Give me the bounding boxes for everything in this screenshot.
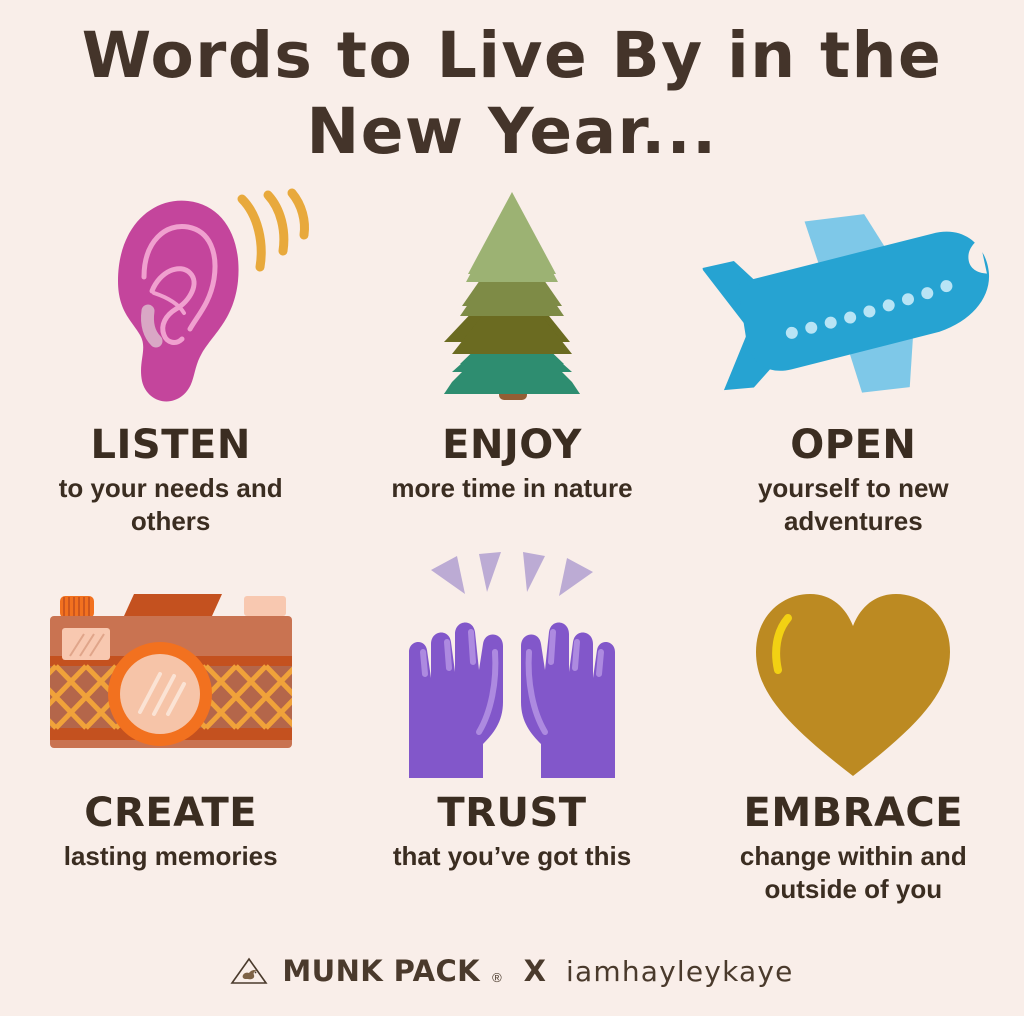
- poster-canvas: Words to Live By in the New Year...: [0, 0, 1024, 1016]
- card-open: OPEN yourself to new adventures: [683, 180, 1024, 538]
- title-line-1: Words to Live By in the: [0, 18, 1024, 94]
- munk-pack-triangle-chipmunk-logo: [230, 956, 268, 986]
- keyword-trust: TRUST: [437, 790, 586, 836]
- card-create: CREATE lasting memories: [0, 552, 341, 906]
- description-embrace: change within and outside of you: [703, 840, 1003, 906]
- grid-row-1: LISTEN to your needs and others: [0, 180, 1024, 538]
- heart-icon: [683, 552, 1024, 784]
- page-title: Words to Live By in the New Year...: [0, 18, 1024, 170]
- keyword-listen: LISTEN: [91, 422, 251, 468]
- card-enjoy: ENJOY more time in nature: [341, 180, 682, 538]
- ear-icon: [0, 180, 341, 410]
- pine-tree-icon: [341, 180, 682, 410]
- raised-hands-icon: [341, 552, 682, 784]
- description-enjoy: more time in nature: [391, 472, 632, 505]
- title-line-2: New Year...: [0, 94, 1024, 170]
- keyword-create: CREATE: [84, 790, 257, 836]
- card-listen: LISTEN to your needs and others: [0, 180, 341, 538]
- airplane-icon: [683, 180, 1024, 410]
- description-trust: that you’ve got this: [393, 840, 631, 873]
- collab-separator: X: [524, 954, 546, 988]
- card-trust: TRUST that you’ve got this: [341, 552, 682, 906]
- brand-name: MUNK PACK: [282, 954, 480, 988]
- description-create: lasting memories: [64, 840, 278, 873]
- description-listen: to your needs and others: [21, 472, 321, 538]
- keyword-open: OPEN: [790, 422, 916, 468]
- keyword-enjoy: ENJOY: [442, 422, 582, 468]
- registered-mark: ®: [492, 970, 502, 985]
- footer-branding: MUNK PACK ® X iamhayleykaye: [0, 954, 1024, 988]
- description-open: yourself to new adventures: [703, 472, 1003, 538]
- collab-handle: iamhayleykaye: [566, 955, 794, 988]
- grid-row-2: CREATE lasting memories: [0, 552, 1024, 906]
- card-embrace: EMBRACE change within and outside of you: [683, 552, 1024, 906]
- words-grid: LISTEN to your needs and others: [0, 180, 1024, 906]
- camera-icon: [0, 552, 341, 784]
- keyword-embrace: EMBRACE: [744, 790, 964, 836]
